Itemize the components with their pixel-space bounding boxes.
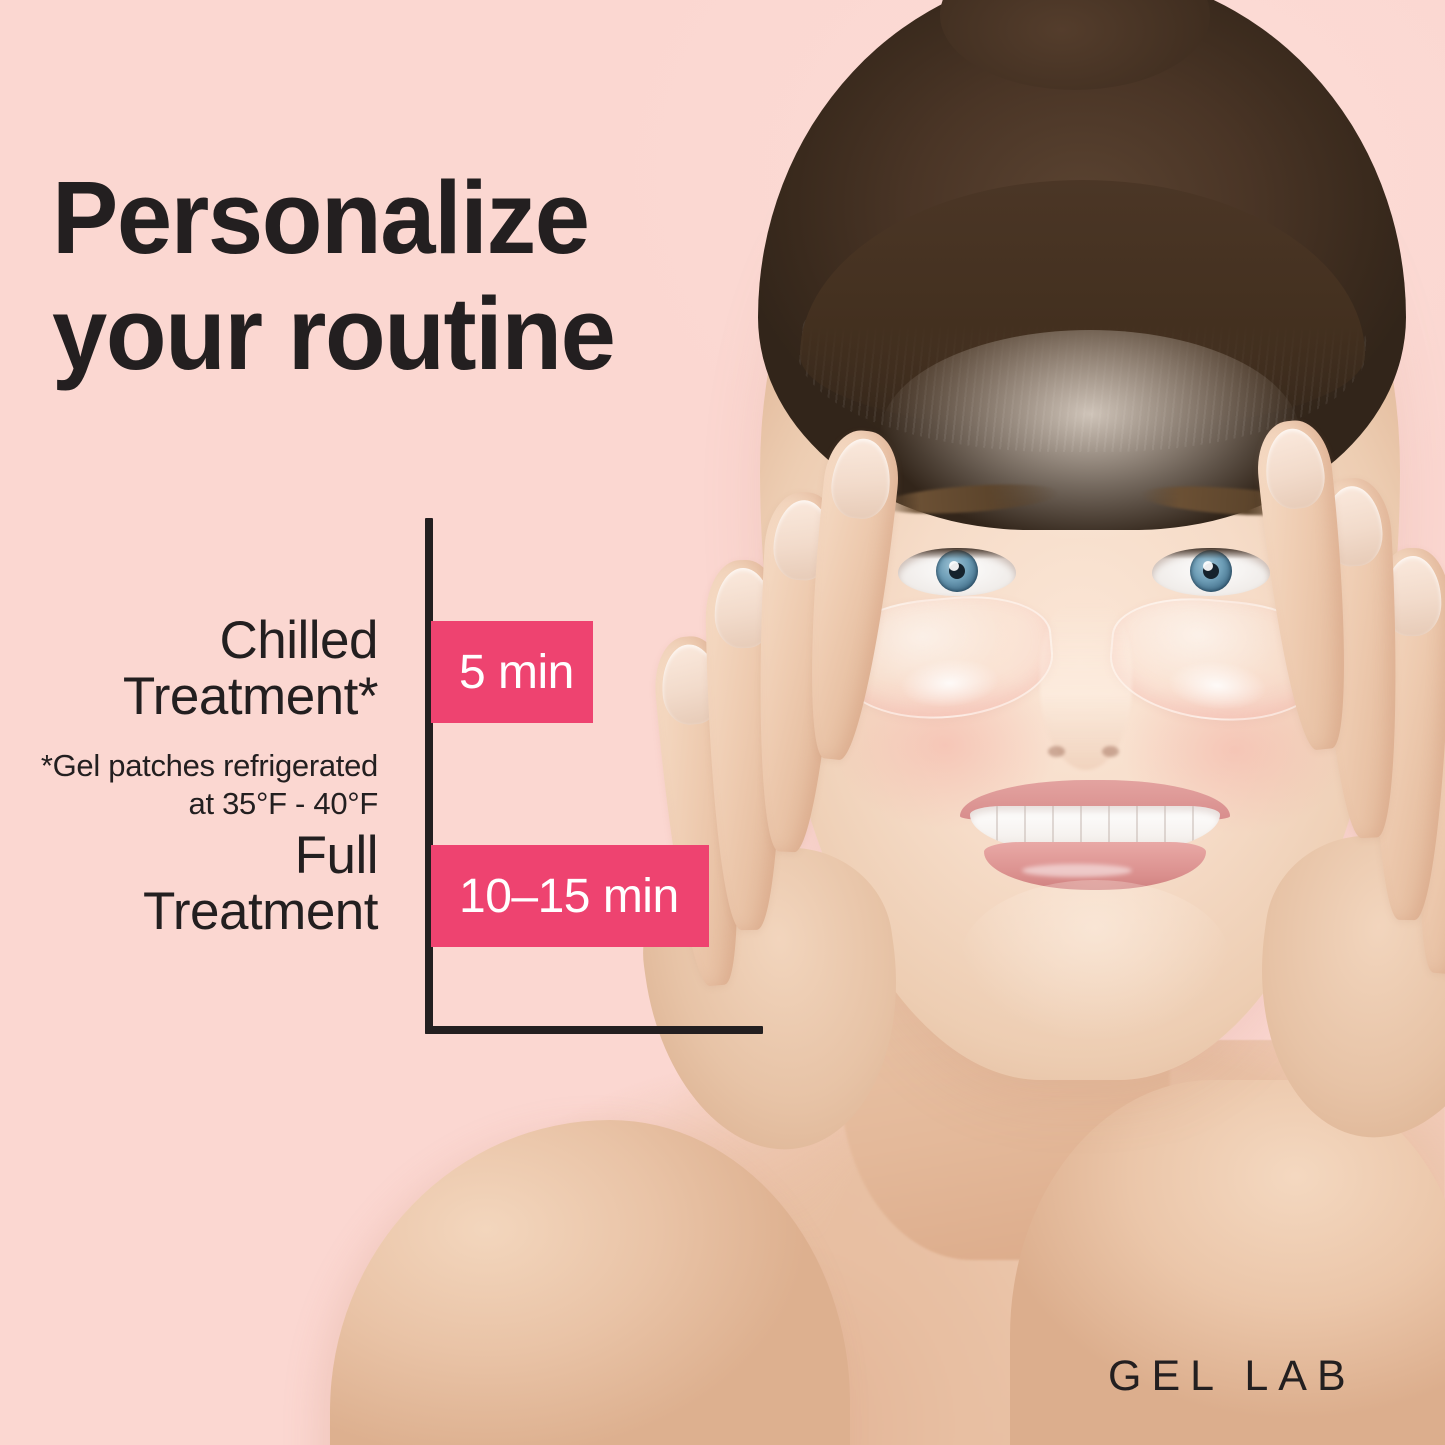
right-hand xyxy=(1230,420,1445,1040)
right-nostril xyxy=(1102,746,1119,757)
nose xyxy=(1040,600,1132,770)
brand-logo: GEL LAB xyxy=(1108,1352,1356,1401)
chin-highlight xyxy=(960,880,1230,1040)
product-infographic: Personalize your routine Chilled Treatme… xyxy=(0,0,1445,1445)
lip-gloss-highlight xyxy=(1022,864,1132,877)
chart-y-axis xyxy=(425,518,433,1034)
chart-category-label: Full Treatment xyxy=(0,828,378,940)
chart-bar-chilled-treatment: 5 min xyxy=(431,621,593,723)
left-nail-1 xyxy=(828,436,894,522)
chart-bar-full-treatment: 10–15 min xyxy=(431,845,709,947)
chart-bar-value: 5 min xyxy=(459,645,574,700)
page-title: Personalize your routine xyxy=(52,160,785,393)
treatment-duration-chart: Chilled Treatment* *Gel patches refriger… xyxy=(0,500,800,1060)
left-nostril xyxy=(1048,746,1065,757)
chart-category-label: Chilled Treatment* xyxy=(0,613,378,725)
chart-bar-value: 10–15 min xyxy=(459,869,679,924)
right-nail-1 xyxy=(1262,426,1328,512)
mouth xyxy=(960,780,1230,895)
chart-footnote: *Gel patches refrigerated at 35°F - 40°F xyxy=(0,747,378,824)
chart-x-axis xyxy=(425,1026,763,1034)
